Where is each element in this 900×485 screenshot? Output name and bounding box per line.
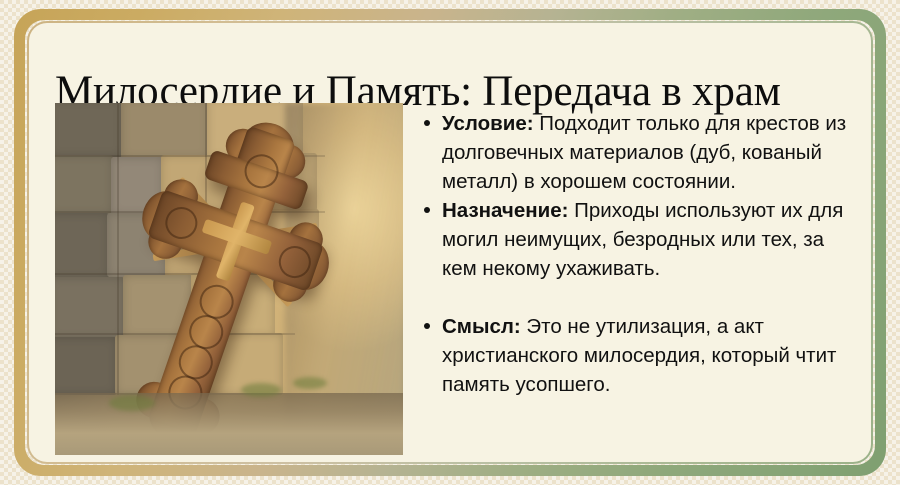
bullet-dot-icon	[424, 207, 430, 213]
stone-block	[55, 213, 109, 279]
list-item: Условие: Подходит только для крестов из …	[421, 109, 851, 196]
list-item-lead: Условие:	[442, 112, 534, 135]
photo-scene	[55, 103, 403, 455]
list-item: Назначение: Приходы используют их для мо…	[421, 196, 851, 283]
stone-block	[55, 155, 113, 215]
list-item-lead: Назначение:	[442, 199, 568, 222]
stone-block	[55, 103, 123, 157]
moss-patch	[293, 377, 327, 389]
list-item: Смысл: Это не утилизация, а акт христиан…	[421, 312, 851, 399]
bullet-list: Условие: Подходит только для крестов из …	[421, 109, 851, 399]
stone-ground	[55, 393, 403, 455]
moss-patch	[109, 395, 155, 411]
bullet-dot-icon	[424, 120, 430, 126]
bullet-dot-icon	[424, 323, 430, 329]
content-panel: Милосердие и Память: Передача в храм	[29, 23, 871, 462]
slide: Милосердие и Память: Передача в храм	[0, 0, 900, 485]
list-item-lead: Смысл:	[442, 315, 521, 338]
carved-wooden-cross-photo	[55, 103, 403, 455]
moss-patch	[241, 383, 281, 397]
